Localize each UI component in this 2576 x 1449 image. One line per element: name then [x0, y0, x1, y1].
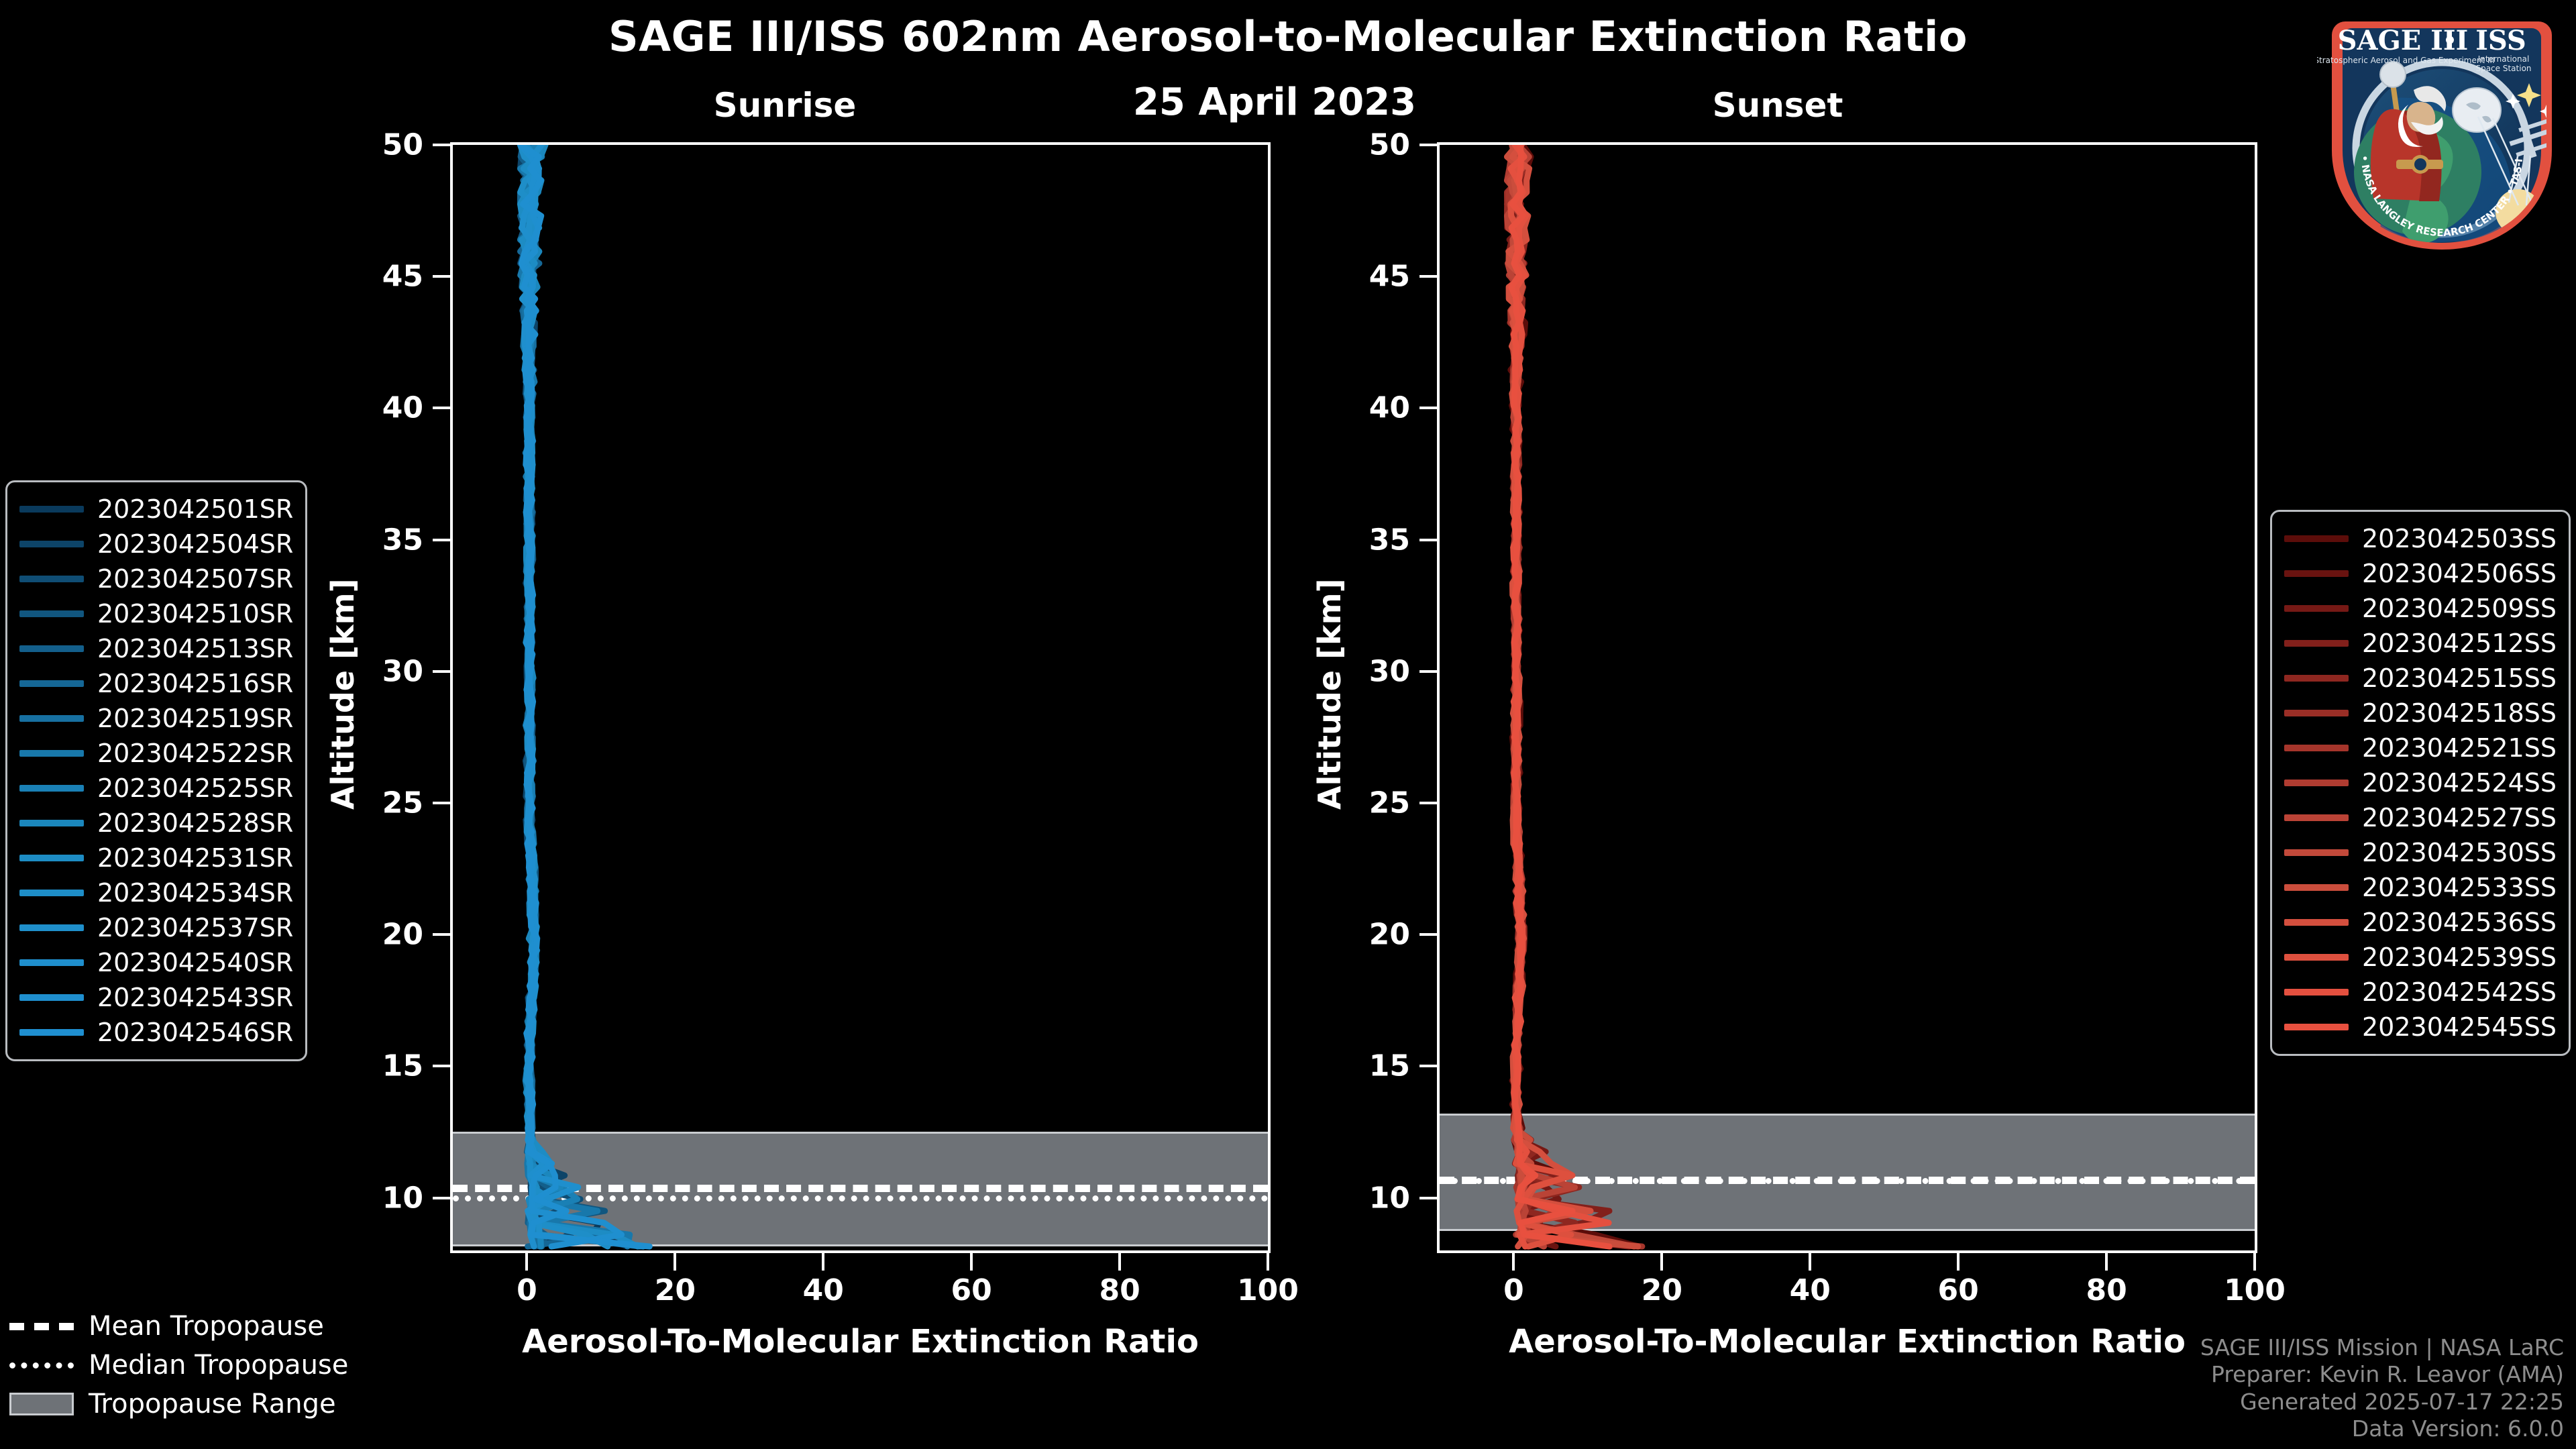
legend-color-swatch — [2284, 745, 2349, 751]
x-axis-tick — [822, 1253, 824, 1271]
y-axis-tick-label: 15 — [350, 1049, 423, 1083]
legend-item[interactable]: 2023042506SS — [2284, 556, 2557, 591]
x-axis-tick-label: 60 — [1938, 1273, 1979, 1307]
legend-item-label: 2023042530SS — [2362, 838, 2557, 867]
legend-item[interactable]: 2023042534SR — [19, 875, 293, 910]
legend-item[interactable]: 2023042524SS — [2284, 765, 2557, 800]
svg-text:International: International — [2478, 54, 2530, 64]
legend-item[interactable]: 2023042510SR — [19, 596, 293, 631]
legend-color-swatch — [2284, 989, 2349, 996]
y-axis-tick-label: 40 — [350, 391, 423, 425]
tropopause-legend-label: Median Tropopause — [89, 1350, 348, 1381]
legend-color-swatch — [2284, 814, 2349, 821]
sunset-profile-curves — [1440, 145, 2255, 1250]
legend-color-swatch — [19, 785, 84, 792]
legend-item[interactable]: 2023042540SR — [19, 945, 293, 980]
legend-color-swatch — [19, 610, 84, 617]
legend-item[interactable]: 2023042530SS — [2284, 835, 2557, 870]
x-axis-title: Aerosol-To-Molecular Extinction Ratio — [1437, 1323, 2257, 1360]
x-axis-tick-label: 100 — [1237, 1273, 1299, 1307]
legend-item[interactable]: 2023042546SR — [19, 1015, 293, 1050]
sunrise-plot-panel — [450, 142, 1271, 1253]
legend-item[interactable]: 2023042507SR — [19, 561, 293, 596]
y-axis-tick-label: 35 — [1336, 523, 1410, 557]
y-axis-tick-label: 50 — [1336, 128, 1410, 162]
legend-item[interactable]: 2023042516SR — [19, 666, 293, 701]
y-axis-tick — [433, 670, 450, 673]
legend-color-swatch — [2284, 675, 2349, 682]
y-axis-title: Altitude [km] — [325, 582, 361, 810]
x-axis-tick-label: 40 — [1790, 1273, 1831, 1307]
legend-item[interactable]: 2023042513SR — [19, 631, 293, 666]
y-axis-tick-label: 40 — [1336, 391, 1410, 425]
profile-line — [1511, 145, 1609, 1246]
x-axis-tick — [674, 1253, 676, 1271]
legend-color-swatch — [2284, 919, 2349, 926]
tropopause-legend-swatch — [9, 1393, 74, 1415]
legend-color-swatch — [19, 750, 84, 757]
legend-item-label: 2023042528SR — [97, 808, 293, 838]
credits-line: SAGE III/ISS Mission | NASA LaRC — [2200, 1334, 2564, 1361]
x-axis-tick — [2105, 1253, 2108, 1271]
legend-color-swatch — [19, 890, 84, 896]
tropopause-legend-swatch — [9, 1323, 74, 1330]
legend-item[interactable]: 2023042512SS — [2284, 626, 2557, 661]
legend-color-swatch — [19, 541, 84, 547]
legend-item-label: 2023042531SR — [97, 843, 293, 873]
y-axis-tick-label: 35 — [350, 523, 423, 557]
y-axis-tick — [1419, 1065, 1437, 1067]
legend-color-swatch — [2284, 535, 2349, 542]
y-axis-tick-label: 20 — [350, 918, 423, 952]
legend-item-label: 2023042534SR — [97, 878, 293, 908]
tropopause-legend-label: Mean Tropopause — [89, 1311, 324, 1342]
legend-item-label: 2023042519SR — [97, 704, 293, 733]
legend-item-label: 2023042522SR — [97, 739, 293, 768]
y-axis-tick-label: 45 — [350, 260, 423, 294]
legend-item-label: 2023042515SS — [2362, 663, 2557, 693]
sunset-plot-panel — [1437, 142, 2257, 1253]
y-axis-tick-label: 50 — [350, 128, 423, 162]
legend-item[interactable]: 2023042528SR — [19, 806, 293, 841]
x-axis-tick-label: 40 — [803, 1273, 844, 1307]
x-axis-tick — [1512, 1253, 1515, 1271]
legend-item-label: 2023042507SR — [97, 564, 293, 594]
legend-item-label: 2023042540SR — [97, 948, 293, 977]
legend-color-swatch — [19, 994, 84, 1001]
x-axis-tick-label: 80 — [1099, 1273, 1140, 1307]
legend-item[interactable]: 2023042525SR — [19, 771, 293, 806]
tropopause-legend-swatch — [9, 1362, 74, 1368]
legend-color-swatch — [19, 1029, 84, 1036]
legend-item-label: 2023042545SS — [2362, 1012, 2557, 1042]
legend-item[interactable]: 2023042521SS — [2284, 731, 2557, 765]
svg-text:Stratospheric Aerosol and Gas: Stratospheric Aerosol and Gas Experiment… — [2317, 56, 2495, 65]
legend-item-label: 2023042506SS — [2362, 559, 2557, 588]
x-axis-tick — [2253, 1253, 2256, 1271]
y-axis-tick-label: 20 — [1336, 918, 1410, 952]
legend-color-swatch — [2284, 849, 2349, 856]
y-axis-tick — [1419, 802, 1437, 804]
credits-block: SAGE III/ISS Mission | NASA LaRCPreparer… — [2200, 1334, 2564, 1442]
sunset-panel-title: Sunset — [1664, 86, 1892, 125]
y-axis-tick — [433, 1197, 450, 1199]
legend-item-label: 2023042525SR — [97, 773, 293, 803]
legend-color-swatch — [19, 680, 84, 687]
svg-text:Space Station: Space Station — [2475, 64, 2531, 73]
x-axis-tick-label: 20 — [655, 1273, 696, 1307]
legend-item[interactable]: 2023042522SR — [19, 736, 293, 771]
legend-color-swatch — [2284, 605, 2349, 612]
y-axis-tick-label: 45 — [1336, 260, 1410, 294]
y-axis-title: Altitude [km] — [1311, 582, 1348, 810]
credits-line: Preparer: Kevin R. Leavor (AMA) — [2200, 1361, 2564, 1388]
profile-line — [1509, 145, 1642, 1246]
x-axis-tick — [1267, 1253, 1269, 1271]
x-axis-title: Aerosol-To-Molecular Extinction Ratio — [450, 1323, 1271, 1360]
y-axis-tick — [1419, 539, 1437, 541]
profile-line — [521, 145, 650, 1246]
y-axis-tick — [433, 933, 450, 936]
legend-item-label: 2023042546SR — [97, 1018, 293, 1047]
legend-item[interactable]: 2023042545SS — [2284, 1010, 2557, 1044]
legend-item[interactable]: 2023042527SS — [2284, 800, 2557, 835]
y-axis-tick-label: 10 — [350, 1181, 423, 1215]
y-axis-tick-label: 15 — [1336, 1049, 1410, 1083]
legend-item-label: 2023042542SS — [2362, 977, 2557, 1007]
profile-line — [1507, 145, 1638, 1246]
svg-text:•: • — [2443, 28, 2457, 54]
profile-line — [522, 145, 643, 1246]
x-axis-tick — [1118, 1253, 1121, 1271]
y-axis-tick-label: 10 — [1336, 1181, 1410, 1215]
legend-item[interactable]: 2023042501SR — [19, 492, 293, 527]
legend-color-swatch — [2284, 570, 2349, 577]
legend-color-swatch — [19, 855, 84, 861]
legend-item[interactable]: 2023042518SS — [2284, 696, 2557, 731]
x-axis-tick-label: 80 — [2086, 1273, 2127, 1307]
y-axis-tick — [433, 144, 450, 146]
legend-item-label: 2023042503SS — [2362, 524, 2557, 553]
y-axis-tick — [1419, 1197, 1437, 1199]
tropopause-legend-label: Tropopause Range — [89, 1389, 336, 1419]
legend-item[interactable]: 2023042539SS — [2284, 940, 2557, 975]
y-axis-tick — [1419, 933, 1437, 936]
legend-color-swatch — [19, 715, 84, 722]
x-axis-tick-label: 0 — [517, 1273, 537, 1307]
legend-color-swatch — [19, 820, 84, 826]
legend-item[interactable]: 2023042537SR — [19, 910, 293, 945]
credits-line: Generated 2025-07-17 22:25 — [2200, 1389, 2564, 1415]
legend-color-swatch — [19, 959, 84, 966]
tropopause-legend: Mean TropopauseMedian TropopauseTropopau… — [9, 1307, 348, 1424]
legend-color-swatch — [2284, 884, 2349, 891]
x-axis-tick — [1660, 1253, 1663, 1271]
legend-item[interactable]: 2023042519SR — [19, 701, 293, 736]
legend-item[interactable]: 2023042515SS — [2284, 661, 2557, 696]
legend-item-label: 2023042533SS — [2362, 873, 2557, 902]
legend-color-swatch — [2284, 640, 2349, 647]
legend-item[interactable]: 2023042542SS — [2284, 975, 2557, 1010]
legend-color-swatch — [19, 506, 84, 513]
sunrise-panel-title: Sunrise — [671, 86, 899, 125]
legend-item[interactable]: 2023042531SR — [19, 841, 293, 875]
x-axis-tick-label: 0 — [1503, 1273, 1524, 1307]
y-axis-tick — [433, 407, 450, 409]
legend-color-swatch — [19, 576, 84, 582]
legend-item-label: 2023042518SS — [2362, 698, 2557, 728]
legend-color-swatch — [2284, 1024, 2349, 1030]
date-title: 25 April 2023 — [1033, 80, 1516, 124]
legend-color-swatch — [2284, 710, 2349, 716]
sunrise-profile-curves — [453, 145, 1268, 1250]
y-axis-tick — [433, 802, 450, 804]
legend-color-swatch — [2284, 780, 2349, 786]
y-axis-tick — [433, 539, 450, 541]
legend-item-label: 2023042512SS — [2362, 629, 2557, 658]
profile-line — [1507, 145, 1639, 1246]
legend-color-swatch — [19, 645, 84, 652]
x-axis-tick-label: 20 — [1642, 1273, 1682, 1307]
legend-item[interactable]: 2023042543SR — [19, 980, 293, 1015]
profile-line — [1510, 145, 1634, 1246]
legend-item-label: 2023042510SR — [97, 599, 293, 629]
legend-item-label: 2023042524SS — [2362, 768, 2557, 798]
x-axis-tick — [1957, 1253, 1960, 1271]
legend-color-swatch — [2284, 954, 2349, 961]
y-axis-tick — [1419, 275, 1437, 278]
x-axis-tick-label: 60 — [951, 1273, 992, 1307]
legend-item-label: 2023042521SS — [2362, 733, 2557, 763]
legend-item-label: 2023042501SR — [97, 494, 293, 524]
legend-item-label: 2023042513SR — [97, 634, 293, 663]
y-axis-tick — [1419, 144, 1437, 146]
legend-item-label: 2023042543SR — [97, 983, 293, 1012]
page-title: SAGE III/ISS 602nm Aerosol-to-Molecular … — [0, 12, 2576, 61]
legend-item-label: 2023042539SS — [2362, 943, 2557, 972]
svg-text:ISS: ISS — [2475, 25, 2526, 56]
legend-color-swatch — [19, 924, 84, 931]
legend-item-label: 2023042516SR — [97, 669, 293, 698]
x-axis-tick-label: 100 — [2224, 1273, 2286, 1307]
legend-item-label: 2023042537SR — [97, 913, 293, 943]
sage-iii-iss-mission-patch-icon: SAGE III • ISS Stratospheric Aerosol and… — [2317, 4, 2567, 254]
sunset-legend[interactable]: 2023042503SS2023042506SS2023042509SS2023… — [2270, 510, 2571, 1056]
legend-item[interactable]: 2023042509SS — [2284, 591, 2557, 626]
x-axis-tick — [970, 1253, 973, 1271]
tropopause-legend-item: Median Tropopause — [9, 1346, 348, 1385]
y-axis-tick — [1419, 407, 1437, 409]
legend-item[interactable]: 2023042536SS — [2284, 905, 2557, 940]
x-axis-tick — [525, 1253, 528, 1271]
tropopause-legend-item: Tropopause Range — [9, 1385, 348, 1424]
y-axis-tick — [433, 1065, 450, 1067]
legend-item[interactable]: 2023042503SS — [2284, 521, 2557, 556]
legend-item-label: 2023042536SS — [2362, 908, 2557, 937]
legend-item-label: 2023042509SS — [2362, 594, 2557, 623]
x-axis-tick — [1809, 1253, 1811, 1271]
y-axis-tick — [433, 275, 450, 278]
sunrise-legend[interactable]: 2023042501SR2023042504SR2023042507SR2023… — [5, 480, 307, 1061]
credits-line: Data Version: 6.0.0 — [2200, 1415, 2564, 1442]
y-axis-tick — [1419, 670, 1437, 673]
legend-item-label: 2023042504SR — [97, 529, 293, 559]
legend-item[interactable]: 2023042504SR — [19, 527, 293, 561]
legend-item[interactable]: 2023042533SS — [2284, 870, 2557, 905]
profile-line — [1511, 145, 1609, 1246]
tropopause-legend-item: Mean Tropopause — [9, 1307, 348, 1346]
legend-item-label: 2023042527SS — [2362, 803, 2557, 833]
